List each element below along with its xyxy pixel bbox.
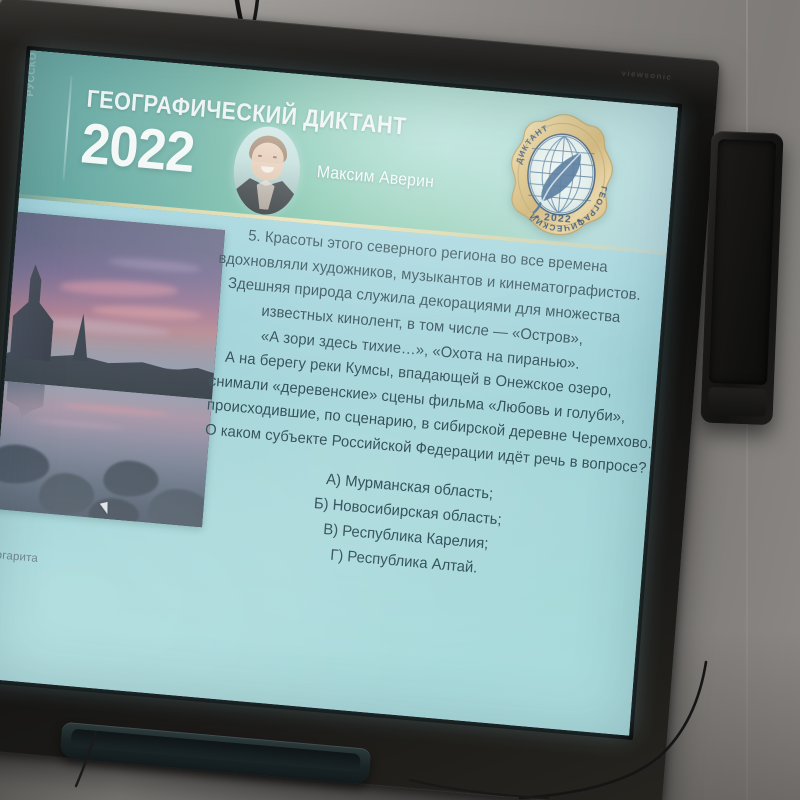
presentation-slide: РУССКОЕ ГЕОГРАФИЧЕСКОЕ ОБЩЕСТВО ГЕОГРАФИ… <box>0 50 678 735</box>
display-screen[interactable]: РУССКОЕ ГЕОГРАФИЧЕСКОЕ ОБЩЕСТВО ГЕОГРАФИ… <box>0 50 678 735</box>
speaker-grille <box>709 139 776 385</box>
host-portrait <box>231 124 304 218</box>
geographic-dictation-emblem-icon: ГЕОГРАФИЧЕСКИЙ ДИКТАНТ 2022 <box>498 107 625 243</box>
answer-options: А) Мурманская область; Б) Новосибирская … <box>188 456 626 594</box>
portrait-face <box>250 141 285 182</box>
brand-year: 2022 <box>79 115 196 182</box>
slide-photo-karelia <box>0 211 225 527</box>
photo-caption: Маргарита <box>0 548 38 565</box>
portrait-eye-left <box>258 155 262 157</box>
header-divider-rule <box>62 76 72 180</box>
host-name: Максим Аверин <box>316 162 435 192</box>
header-edge-text: РУССКОЕ ГЕОГРАФИЧЕСКОЕ ОБЩЕСТВО <box>25 50 54 97</box>
trailing-cables <box>0 640 800 800</box>
portrait-eye-right <box>273 156 277 158</box>
question-block: 5. Красоты этого северного региона во вс… <box>188 221 644 594</box>
speaker-base <box>708 387 767 417</box>
room-scene: viewsonic РУССКОЕ ГЕОГРАФИЧЕСКОЕ ОБЩЕСТВ… <box>0 0 800 800</box>
wall-speaker <box>700 131 783 426</box>
